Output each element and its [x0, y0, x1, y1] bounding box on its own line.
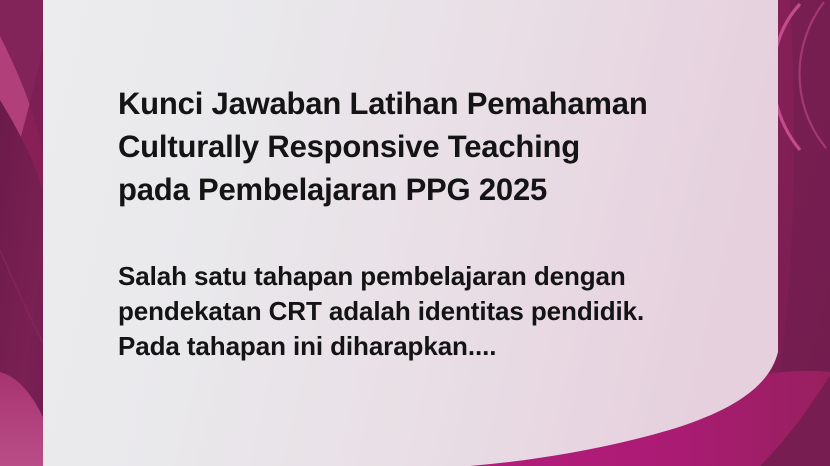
subtitle-text: Salah satu tahapan pembelajaran dengan p…: [118, 211, 728, 364]
subtitle-line-2: pendekatan CRT adalah identitas pendidik…: [118, 294, 728, 329]
page-title: Kunci Jawaban Latihan Pemahaman Cultural…: [118, 82, 728, 211]
subtitle-line-3: Pada tahapan ini diharapkan....: [118, 329, 728, 364]
title-line-3: pada Pembelajaran PPG 2025: [118, 168, 728, 211]
slide-canvas: Kunci Jawaban Latihan Pemahaman Cultural…: [0, 0, 830, 466]
title-line-2: Culturally Responsive Teaching: [118, 125, 728, 168]
title-line-1: Kunci Jawaban Latihan Pemahaman: [118, 82, 728, 125]
text-content-block: Kunci Jawaban Latihan Pemahaman Cultural…: [118, 82, 728, 364]
subtitle-line-1: Salah satu tahapan pembelajaran dengan: [118, 259, 728, 294]
